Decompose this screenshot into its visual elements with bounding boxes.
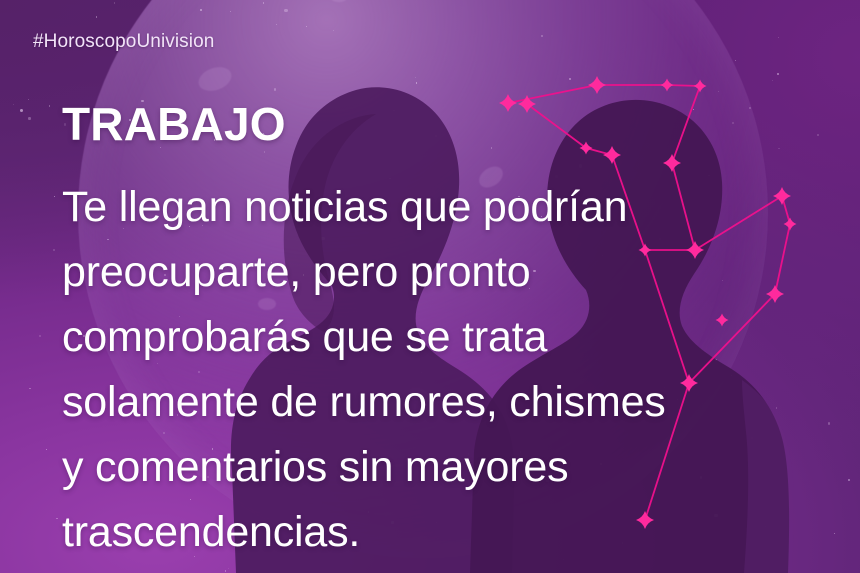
constellation-star	[580, 142, 593, 155]
constellation-star	[661, 79, 674, 92]
constellation-star	[499, 94, 517, 112]
horoscope-body-text: Te llegan noticias que podríanpreocupart…	[62, 175, 802, 565]
constellation-line	[508, 85, 597, 103]
constellation-star	[663, 154, 681, 172]
hashtag-label: #HoroscopoUnivision	[33, 31, 214, 53]
constellation-line	[672, 86, 700, 163]
body-line: Te llegan noticias que podrían	[62, 175, 802, 240]
constellation-star	[694, 80, 707, 93]
body-line: y comentarios sin mayores	[62, 435, 802, 500]
page-title: TRABAJO	[62, 101, 286, 147]
horoscope-card: #HoroscopoUnivision TRABAJO Te llegan no…	[0, 0, 860, 573]
constellation-star	[588, 76, 606, 94]
body-line: preocuparte, pero pronto	[62, 240, 802, 305]
constellation-star	[603, 146, 621, 164]
body-line: trascendencias.	[62, 500, 802, 565]
body-line: solamente de rumores, chismes	[62, 370, 802, 435]
constellation-line	[527, 104, 586, 148]
body-line: comprobarás que se trata	[62, 305, 802, 370]
